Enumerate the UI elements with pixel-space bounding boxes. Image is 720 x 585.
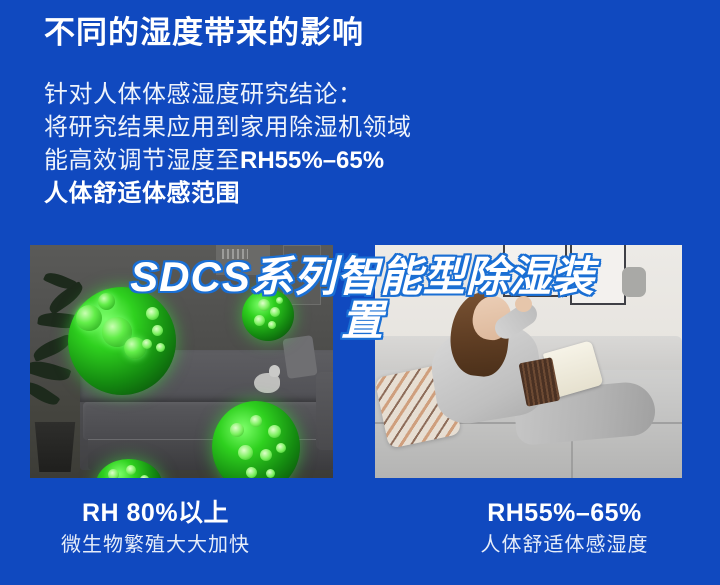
poster-root: 不同的湿度带来的影响 针对人体体感湿度研究结论： 将研究结果应用到家用除湿机领域… — [0, 0, 720, 585]
intro-line-1: 针对人体体感湿度研究结论： — [44, 78, 514, 111]
photo-row — [0, 245, 720, 478]
intro-line-3: 能高效调节湿度至RH55%–65% — [44, 144, 514, 177]
intro-text-block: 针对人体体感湿度研究结论： 将研究结果应用到家用除湿机领域 能高效调节湿度至RH… — [44, 78, 514, 210]
caption-right-subtitle: 人体舒适体感湿度 — [409, 532, 720, 559]
wall-shelf — [216, 245, 270, 277]
microbe-large — [68, 287, 176, 395]
caption-left-subtitle: 微生物繁殖大大加快 — [0, 532, 311, 559]
caption-right: RH55%–65% 人体舒适体感湿度 — [375, 498, 720, 578]
sofa-arm-right — [316, 372, 333, 450]
caption-row: RH 80%以上 微生物繁殖大大加快 RH55%–65% 人体舒适体感湿度 — [0, 498, 720, 578]
intro-line-3-emphasis: RH55%–65% — [240, 147, 384, 174]
page-title: 不同的湿度带来的影响 — [44, 14, 364, 53]
dark-room-background — [30, 245, 333, 478]
microbe-small — [242, 289, 294, 341]
dark-pillow — [282, 335, 317, 379]
wall-art-frame-1 — [503, 245, 567, 297]
plant-pot — [32, 422, 78, 472]
caption-left: RH 80%以上 微生物繁殖大大加快 — [0, 498, 375, 578]
intro-line-2: 将研究结果应用到家用除湿机领域 — [44, 111, 514, 144]
caption-right-title: RH55%–65% — [409, 498, 720, 529]
photo-right-comfort-humidity — [375, 245, 682, 478]
photo-left-high-humidity — [30, 245, 333, 478]
intro-line-3-plain: 能高效调节湿度至 — [44, 147, 240, 174]
caption-left-title: RH 80%以上 — [0, 498, 311, 529]
light-room-background — [375, 245, 682, 478]
plant-leaf — [31, 334, 73, 362]
woman-hand — [515, 296, 532, 312]
plant-leaf — [30, 377, 60, 409]
wall-speaker — [622, 267, 646, 297]
wall-frame — [283, 245, 321, 305]
intro-line-4: 人体舒适体感范围 — [44, 177, 514, 210]
woman-reading — [411, 294, 651, 454]
dog-ornament — [254, 373, 280, 393]
